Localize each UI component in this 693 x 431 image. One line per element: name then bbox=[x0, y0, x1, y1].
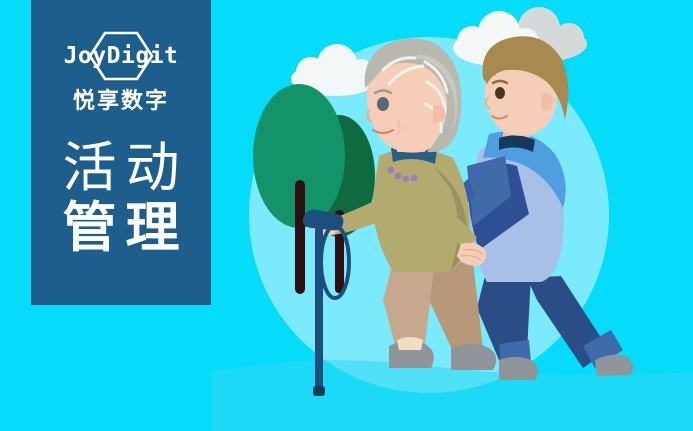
woman-eye bbox=[377, 97, 389, 111]
brand-logo-text: JoyDigit bbox=[64, 45, 179, 68]
brand-logo: JoyDigit bbox=[51, 30, 191, 82]
page-title: 活动 管理 bbox=[54, 139, 189, 258]
woman-sweater bbox=[373, 148, 470, 272]
cane-tip bbox=[313, 386, 325, 396]
illustration-artwork bbox=[211, 0, 693, 431]
page-title-line-2: 管理 bbox=[54, 199, 189, 257]
page-title-line-1: 活动 bbox=[54, 139, 189, 197]
young-man-back-shoe bbox=[595, 355, 633, 376]
woman-sock bbox=[397, 337, 423, 350]
woman-ear bbox=[433, 105, 445, 122]
young-man-ear bbox=[541, 93, 553, 110]
poster-canvas: JoyDigit 悦享数字 活动 管理 bbox=[0, 0, 693, 431]
brand-logo-chinese: 悦享数字 bbox=[73, 91, 169, 113]
brand-title-panel: JoyDigit 悦享数字 活动 管理 bbox=[31, 0, 211, 305]
young-man-eye bbox=[495, 87, 505, 99]
